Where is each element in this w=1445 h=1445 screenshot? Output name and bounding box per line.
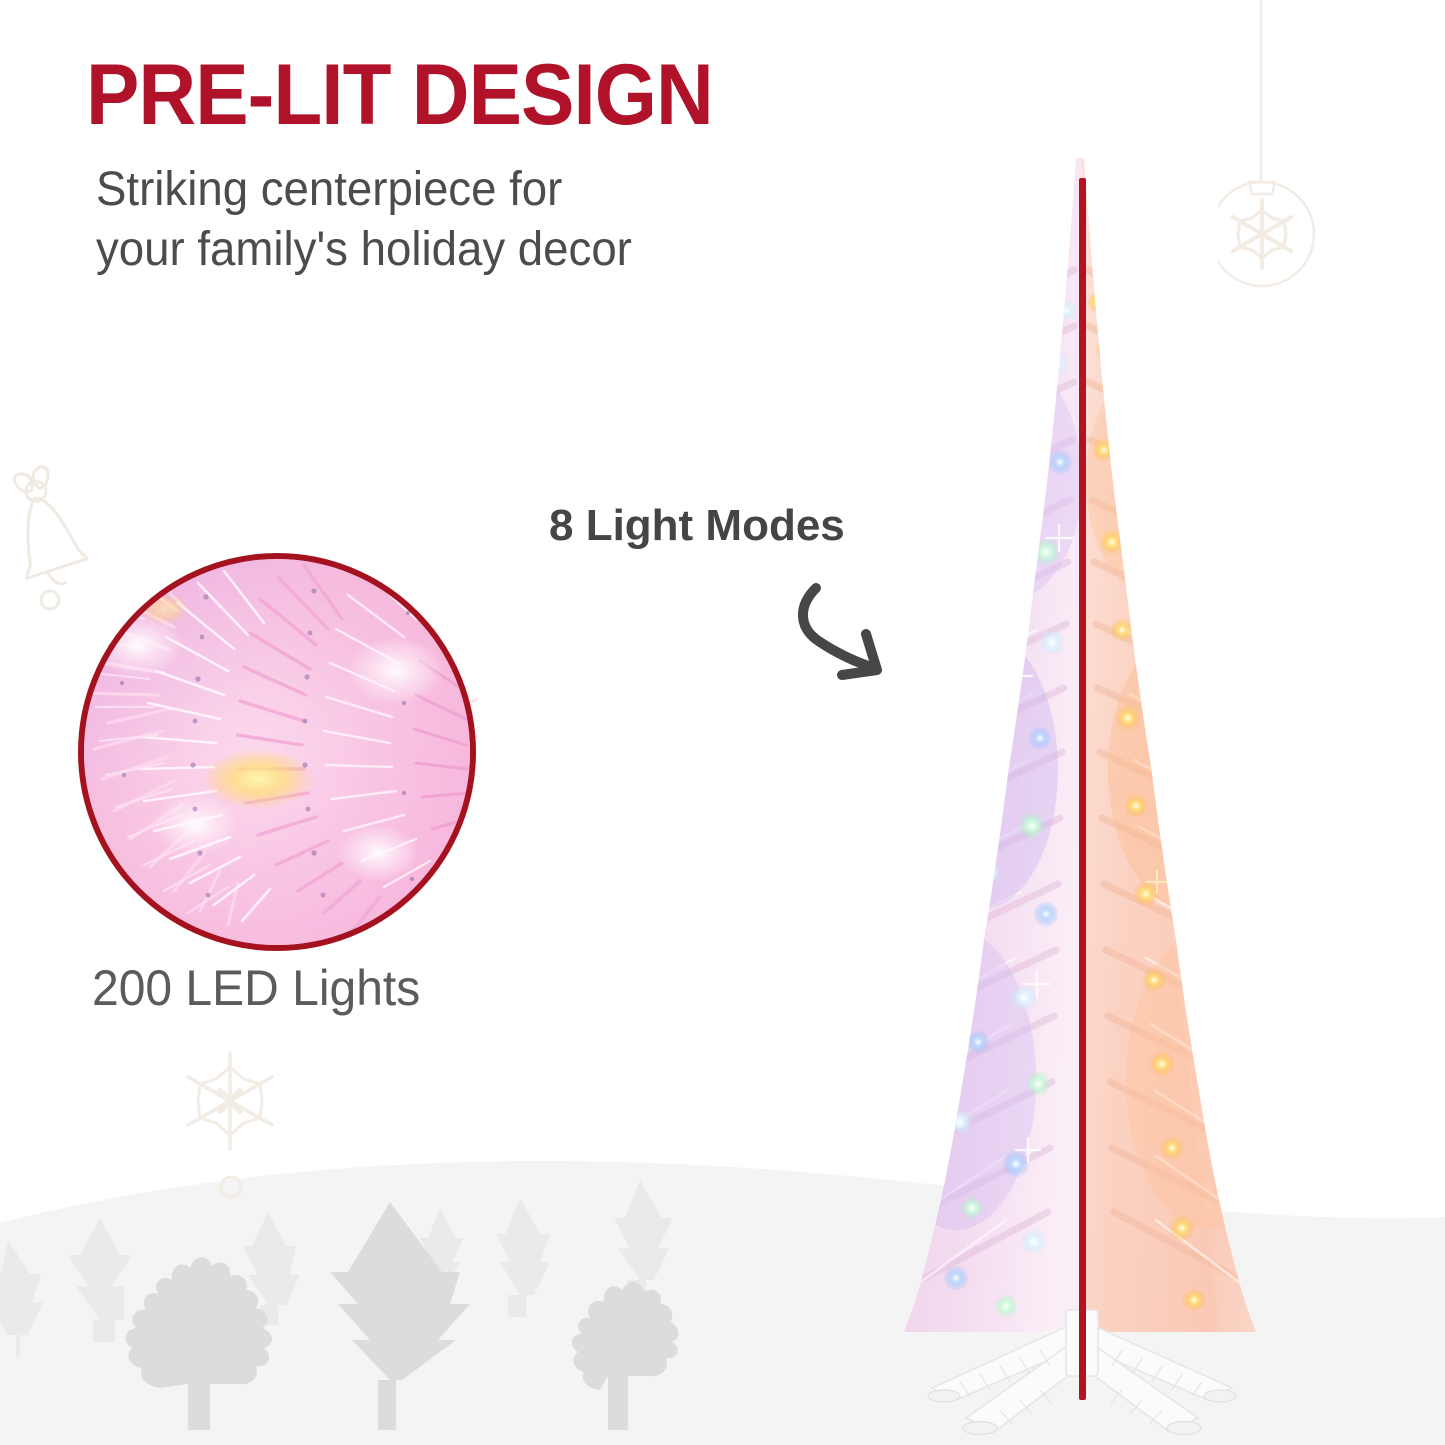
subtitle: Striking centerpiece for your family's h… [96,160,761,280]
magnified-detail-callout [78,553,476,951]
subtitle-line-1: Striking centerpiece for [96,160,761,220]
led-count-caption: 200 LED Lights [92,959,420,1017]
light-modes-label: 8 Light Modes [549,500,845,552]
page-title: PRE-LIT DESIGN [86,52,713,138]
branch-closeup-image [78,553,476,951]
product-feature-graphic: PRE-LIT DESIGN Striking centerpiece for … [0,0,1445,1445]
subtitle-line-2: your family's holiday decor [96,220,761,280]
christmas-tree-product-image [860,150,1330,1440]
red-divider-line [1079,178,1086,1400]
